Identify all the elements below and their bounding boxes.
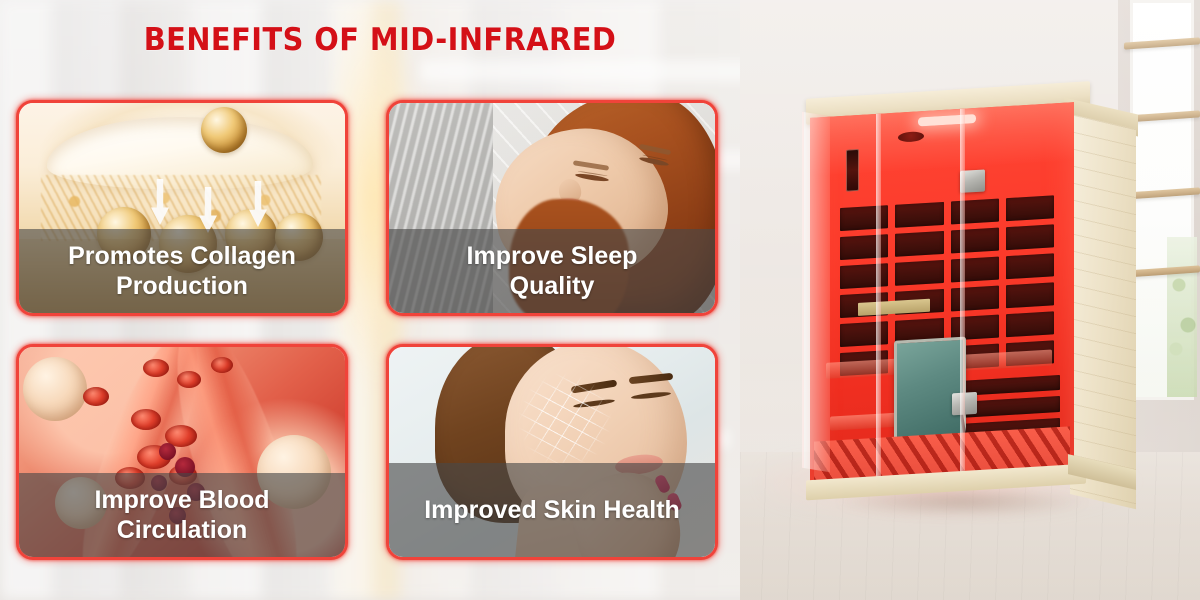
heater-panel [895,202,943,228]
serum-droplet [201,107,247,153]
heater-panel [840,321,888,347]
sauna-cabin-interior [810,102,1074,486]
page-title: BENEFITS OF MID-INFRARED [27,22,734,58]
heater-panel [840,205,888,231]
red-blood-cell [177,371,201,388]
promotional-banner: BENEFITS OF MID-INFRARED Promotes Collag… [0,0,1200,600]
benefit-label-band: Improved Skin Health [389,463,715,557]
benefit-label: Improve Blood Circulation [86,485,277,546]
heater-panel [1006,282,1054,308]
sauna-side-wall [1070,114,1136,509]
red-blood-cell [83,387,109,406]
benefit-card-improve-blood-circulation[interactable]: Improve Blood Circulation [16,344,348,560]
red-blood-cell [211,357,233,373]
benefit-card-promotes-collagen-production[interactable]: Promotes Collagen Production [16,100,348,316]
glass-door-mullion [960,109,965,477]
heater-panel [951,199,999,225]
benefit-label-band: Improve Sleep Quality [389,229,715,313]
white-blood-cell [23,357,87,421]
benefit-label: Promotes Collagen Production [60,241,304,302]
sauna-side-glass-panel [802,112,830,472]
heater-panel [951,228,999,254]
heater-panel [951,257,999,283]
benefit-card-improve-sleep-quality[interactable]: Improve Sleep Quality [386,100,718,316]
sauna-control-panel[interactable] [894,337,966,445]
heater-panel [1006,224,1054,250]
red-blood-cell [131,409,161,430]
benefit-label: Improved Skin Health [416,495,688,526]
wall-control-display[interactable] [846,149,859,192]
red-blood-cell [143,359,169,377]
glass-door-mullion [876,114,881,482]
benefits-card-grid: Promotes Collagen Production Improve Sle… [16,100,722,560]
benefit-label: Improve Sleep Quality [459,241,646,302]
heater-panel [1006,195,1054,221]
benefit-card-improved-skin-health[interactable]: Improved Skin Health [386,344,718,560]
heater-panel [895,260,943,286]
heater-panel [840,263,888,289]
heater-panel [840,234,888,260]
benefit-label-band: Improve Blood Circulation [19,473,345,557]
heater-panel [1006,253,1054,279]
infrared-sauna-product[interactable] [800,84,1130,514]
heater-panel [1006,311,1054,337]
heater-panel [895,231,943,257]
heater-panel [951,286,999,312]
platelet-cell [159,443,176,460]
benefit-label-band: Promotes Collagen Production [19,229,345,313]
